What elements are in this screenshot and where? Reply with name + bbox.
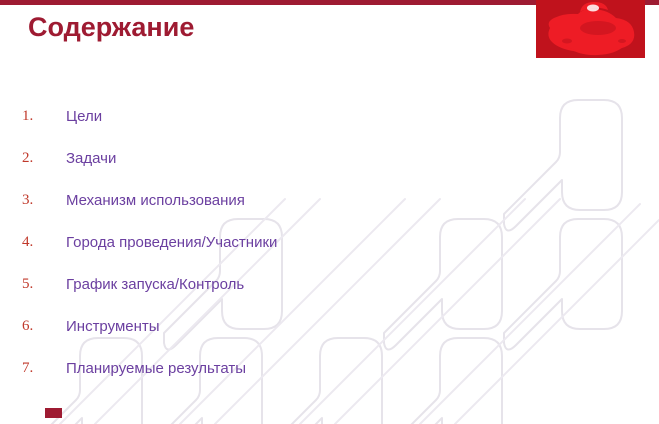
list-item-number: 5. <box>22 276 48 293</box>
list-item[interactable]: 7. Планируемые результаты <box>0 360 560 402</box>
agenda-list: 1. Цели 2. Задачи 3. Механизм использова… <box>0 108 560 402</box>
company-logo-icon <box>536 0 645 58</box>
list-item-label: Планируемые результаты <box>66 360 246 377</box>
list-item-number: 2. <box>22 150 48 167</box>
list-item[interactable]: 1. Цели <box>0 108 560 150</box>
list-item-number: 1. <box>22 108 48 125</box>
list-item-number: 4. <box>22 234 48 251</box>
list-item-label: Механизм использования <box>66 192 245 209</box>
list-item-label: Задачи <box>66 150 116 167</box>
list-item-label: Цели <box>66 108 102 125</box>
list-item-number: 6. <box>22 318 48 335</box>
list-item-number: 7. <box>22 360 48 377</box>
logo-block <box>536 0 645 58</box>
list-item-label: График запуска/Контроль <box>66 276 244 293</box>
list-item[interactable]: 5. График запуска/Контроль <box>0 276 560 318</box>
list-item[interactable]: 4. Города проведения/Участники <box>0 234 560 276</box>
presentation-slide: Содержание 1. Цели 2. Задачи 3. Механизм… <box>0 0 659 424</box>
list-item-number: 3. <box>22 192 48 209</box>
page-title: Содержание <box>28 12 194 43</box>
list-item[interactable]: 6. Инструменты <box>0 318 560 360</box>
list-item-label: Города проведения/Участники <box>66 234 277 251</box>
list-item-label: Инструменты <box>66 318 160 335</box>
bullet-mark <box>45 408 62 418</box>
list-item[interactable]: 2. Задачи <box>0 150 560 192</box>
list-item[interactable]: 3. Механизм использования <box>0 192 560 234</box>
